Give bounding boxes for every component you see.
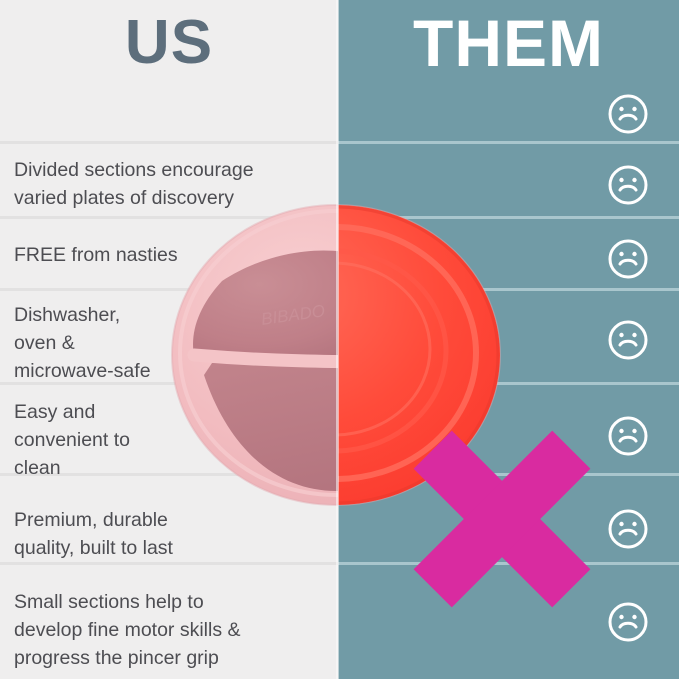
sad-face-icon [606,318,650,362]
comparison-graphic: BIBADO US [0,0,679,679]
row-divider-left [0,562,338,565]
feature-item-motor-skills: Small sections help to develop fine moto… [14,588,334,672]
heading-them: THEM [338,10,679,76]
row-divider [0,141,679,144]
sad-face-icon [606,414,650,458]
cross-x-icon [404,421,600,617]
feature-item-free-from-nasties: FREE from nasties [14,241,334,269]
sad-face-icon [606,237,650,281]
feature-item-dishwasher-safe: Dishwasher, oven & microwave-safe [14,301,334,385]
feature-item-premium-durable: Premium, durable quality, built to last [14,506,334,562]
sad-face-icon [606,163,650,207]
row-divider-right [338,141,679,144]
feature-item-divided-sections: Divided sections encourage varied plates… [14,156,334,212]
sad-face-icon [606,507,650,551]
heading-us: US [0,12,338,74]
feature-item-easy-clean: Easy and convenient to clean [14,398,334,482]
sad-face-icon [606,92,650,136]
split-seam [336,0,339,679]
sad-face-icon [606,600,650,644]
row-divider-left [0,141,338,144]
